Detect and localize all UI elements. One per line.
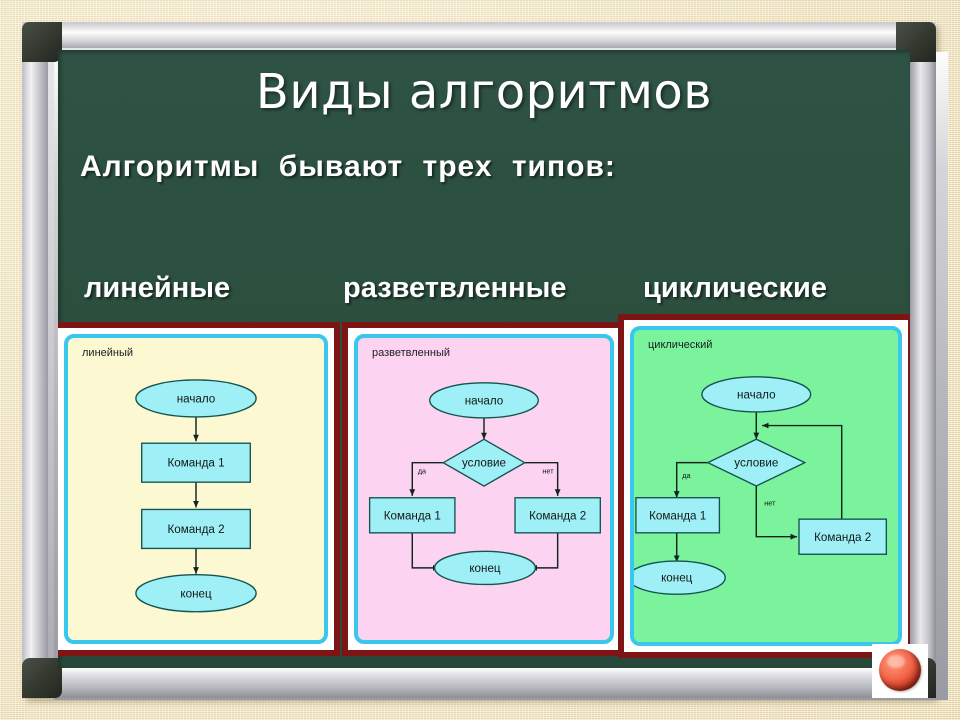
node-label-cmd2: Команда 2 <box>814 531 871 544</box>
node-label-end: конец <box>180 587 212 600</box>
flowchart-cyclic-diagram: начало условие да нет Команда 1 Команда … <box>634 330 898 642</box>
node-label-condition: условие <box>462 457 506 470</box>
algorithm-type-labels: линейные разветвленные циклические <box>58 272 910 312</box>
node-label-start: начало <box>465 394 504 407</box>
edge-label-yes: да <box>418 466 427 475</box>
slide-title: Виды алгоритмов <box>58 64 910 120</box>
flowchart-linear-diagram: начало Команда 1 Команда 2 конец <box>68 338 324 640</box>
slide-subtitle: Алгоритмы бывают трех типов: <box>80 150 616 184</box>
edge-label-no: нет <box>542 466 554 475</box>
node-label-cmd2: Команда 2 <box>529 509 586 522</box>
node-label-start: начало <box>737 388 776 401</box>
node-label-cmd2: Команда 2 <box>167 523 224 536</box>
node-label-cmd1: Команда 1 <box>649 509 706 522</box>
frame-corner-top-left <box>22 22 62 62</box>
flowchart-panel-cyclic-inner: циклический начало ус <box>630 326 902 646</box>
red-sphere-logo[interactable] <box>872 644 928 698</box>
node-label-cmd1: Команда 1 <box>384 509 441 522</box>
flowchart-panel-branching-inner: разветвленный начало <box>354 334 614 644</box>
flowchart-panel-cyclic[interactable]: циклический начало ус <box>618 314 910 658</box>
node-label-end: конец <box>661 572 693 585</box>
board-frame-left-edge <box>22 30 48 698</box>
board-frame-right-edge <box>910 30 936 698</box>
type-label-branching: разветвленные <box>343 272 567 305</box>
type-label-linear: линейные <box>84 272 230 305</box>
type-label-cyclic: циклические <box>643 272 827 305</box>
chalkboard-surface: Виды алгоритмов Алгоритмы бывают трех ти… <box>58 50 910 668</box>
node-label-start: начало <box>177 392 216 405</box>
flowchart-panel-linear[interactable]: линейный начало Команда 1 <box>58 322 340 656</box>
board-frame-bottom-edge <box>22 668 936 698</box>
node-label-end: конец <box>469 562 501 575</box>
edge-label-yes: да <box>682 471 691 480</box>
edge-label-no: нет <box>764 498 776 507</box>
flowchart-panel-linear-inner: линейный начало Команда 1 <box>64 334 328 644</box>
red-sphere-logo-icon <box>879 649 921 691</box>
node-label-cmd1: Команда 1 <box>167 457 224 470</box>
board-frame-top-edge <box>22 22 936 48</box>
flowchart-branching-diagram: начало условие да нет Команда 1 Команда … <box>358 338 610 640</box>
node-label-condition: условие <box>734 457 778 470</box>
flowchart-panel-branching[interactable]: разветвленный начало <box>342 322 626 656</box>
frame-corner-bottom-left <box>22 658 62 698</box>
